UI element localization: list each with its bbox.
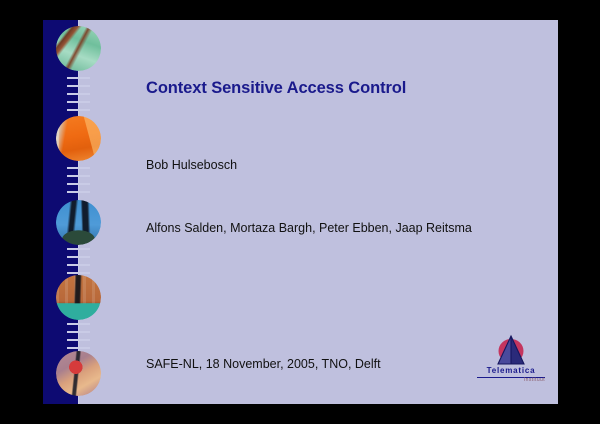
circle-photo-green-foliage <box>56 26 101 71</box>
circle-photo-red-umbrella-image <box>56 351 101 396</box>
circle-photo-brick-quay <box>56 275 101 320</box>
band-tick-mark <box>67 331 90 333</box>
telematica-pyramid-icon <box>491 334 531 368</box>
band-tick-mark <box>67 109 90 111</box>
band-tick-mark <box>67 85 90 87</box>
band-tick-mark <box>67 248 90 250</box>
slide-presenter-name: Bob Hulsebosch <box>146 158 526 174</box>
circle-photo-blue-sky-image <box>56 200 101 245</box>
band-tick-mark <box>67 339 90 341</box>
presentation-slide-viewport: Context Sensitive Access Control Bob Hul… <box>0 0 600 424</box>
band-tick-mark <box>67 93 90 95</box>
telematica-logo: Telematica Instituut <box>475 334 547 386</box>
circle-photo-orange-crane-image <box>56 116 101 161</box>
band-tick-mark <box>67 101 90 103</box>
circle-photo-red-umbrella <box>56 351 101 396</box>
band-tick-mark <box>67 272 90 274</box>
slide-coauthors-list: Alfons Salden, Mortaza Bargh, Peter Ebbe… <box>146 220 486 237</box>
band-tick-mark <box>67 264 90 266</box>
band-tick-mark <box>67 323 90 325</box>
band-tick-mark <box>67 167 90 169</box>
circle-photo-blue-sky <box>56 200 101 245</box>
circle-photo-green-foliage-image <box>56 26 101 71</box>
circle-photo-brick-quay-image <box>56 275 101 320</box>
slide-event-details: SAFE-NL, 18 November, 2005, TNO, Delft <box>146 357 506 373</box>
slide-canvas: Context Sensitive Access Control Bob Hul… <box>43 20 558 404</box>
band-tick-mark <box>67 347 90 349</box>
circle-photo-orange-crane <box>56 116 101 161</box>
band-tick-mark <box>67 183 90 185</box>
telematica-wordmark: Telematica <box>475 367 547 375</box>
telematica-subtext: Instituut <box>475 378 545 383</box>
band-tick-mark <box>67 191 90 193</box>
band-tick-mark <box>67 256 90 258</box>
band-tick-mark <box>67 77 90 79</box>
slide-title: Context Sensitive Access Control <box>146 79 536 98</box>
band-tick-mark <box>67 175 90 177</box>
